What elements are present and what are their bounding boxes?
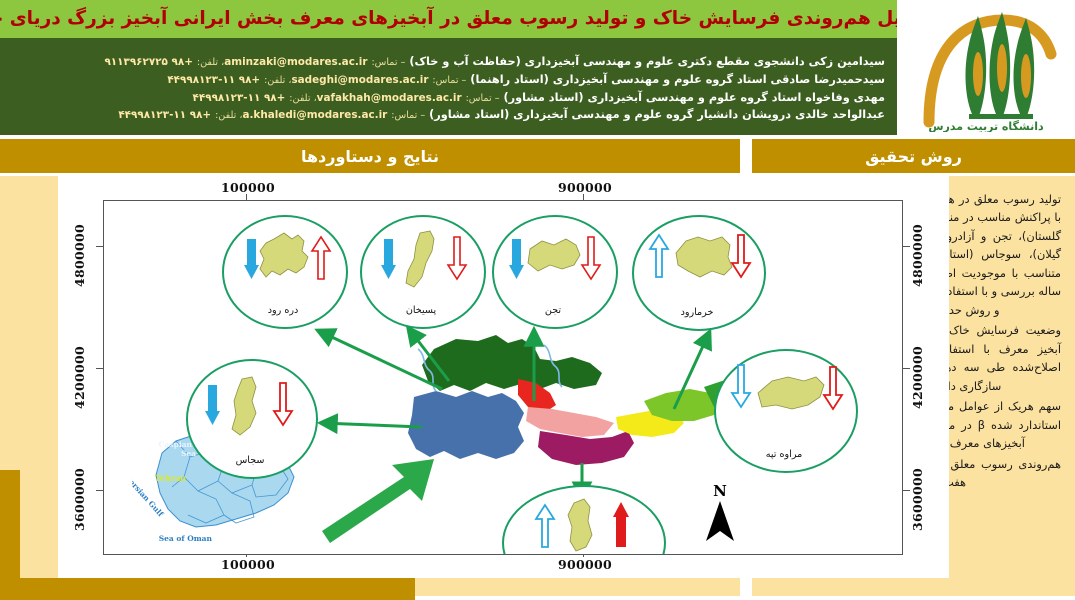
arrow-erosion-up-solid-red — [613, 502, 629, 547]
arrow-erosion-down-hollow-red — [274, 383, 292, 425]
scalebar-tick-220: 220 — [588, 553, 608, 555]
scalebar-tick-110: 110 — [549, 553, 569, 555]
arrow-erosion-down-hollow-red — [732, 235, 750, 277]
watershed-circle-pasikhan[interactable]: پسیخان — [360, 215, 482, 325]
author-contact-label: – تماس: — [466, 93, 500, 104]
north-label: N — [701, 484, 739, 499]
author-name: مهدی وفاخواه استاد گروه علوم و مهندسی آب… — [503, 91, 885, 104]
arrow-sediment-down-solid-blue — [509, 239, 524, 279]
arrow-erosion-up-hollow-red — [312, 237, 330, 279]
axis-tick-mark — [903, 368, 910, 369]
scalebar-tick-55: 55 — [533, 553, 546, 555]
axis-tick-mark — [96, 490, 103, 491]
author-phone: +۹۸ ۱۱-۴۴۹۹۸۱۲۳ — [167, 74, 260, 86]
watershed-circle-dareh-rood[interactable]: دره رود — [222, 215, 344, 325]
author-phone-label: ، تلفن: — [264, 75, 291, 86]
university-logo: دانشگاه تربیت مدرس — [897, 0, 1075, 135]
author-line: مهدی وفاخواه استاد گروه علوم و مهندسی آب… — [8, 89, 889, 107]
watershed-circle-tajan[interactable]: تجن — [492, 215, 614, 325]
arrow-sediment-down-solid-blue — [244, 239, 259, 279]
watershed-label-sojas: سجاس — [186, 455, 314, 466]
map-figure: 100000 900000 100000 900000 4800000 4200… — [58, 176, 949, 578]
watershed-label-pasikhan: پسیخان — [360, 305, 482, 316]
logo-caption: دانشگاه تربیت مدرس — [928, 120, 1044, 132]
section-header-results: نتایج و دستاوردها — [0, 139, 740, 173]
north-arrow: N — [701, 484, 739, 547]
author-line: سیدامین زکی دانشجوی مقطع دکتری علوم و مه… — [8, 53, 889, 71]
poster-title-band: تحلیل هم‌روندی فرسایش خاک و تولید رسوب م… — [0, 0, 897, 38]
scalebar-tick-330: 330 — [624, 553, 644, 555]
author-email[interactable]: a.khaledi@modares.ac.ir — [242, 109, 387, 121]
author-contact-label: – تماس: — [391, 110, 425, 121]
author-name: سیدحمیدرضا صادقی استاد گروه علوم و مهندس… — [470, 73, 885, 86]
scalebar-tick-0: 0 — [516, 553, 523, 555]
x-axis-tick-bottom-right: 900000 — [558, 557, 612, 572]
author-email[interactable]: sadeghi@modares.ac.ir — [291, 74, 428, 86]
scalebar-numbers: 0 55 110 220 330 440 — [516, 553, 676, 555]
north-arrow-icon — [703, 499, 737, 543]
y-axis-tick-left-3: 3600000 — [72, 468, 87, 531]
author-email[interactable]: aminzaki@modares.ac.ir — [224, 56, 367, 68]
author-phone: +۹۸ ۱۱-۴۴۹۹۸۱۲۳ — [118, 109, 211, 121]
author-line: عبدالواحد خالدی درویشان دانشیار گروه علو… — [8, 106, 889, 124]
y-axis-tick-left-2: 4200000 — [72, 346, 87, 409]
tarbiat-modares-logo-icon: دانشگاه تربیت مدرس — [911, 4, 1061, 132]
arrow-erosion-down-hollow-red — [824, 367, 842, 409]
y-axis-tick-right-1: 4800000 — [910, 224, 925, 287]
poster-root: تحلیل هم‌روندی فرسایش خاک و تولید رسوب م… — [0, 0, 1075, 600]
section-header-results-label: نتایج و دستاوردها — [301, 147, 439, 166]
arrow-sediment-down-hollow-blue — [732, 365, 750, 407]
author-contact-label: – تماس: — [371, 57, 405, 68]
watershed-circle-azadroud[interactable]: آزادرود — [502, 485, 662, 555]
author-phone: +۹۸ ۱۱-۴۴۹۹۸۱۲۳ — [193, 92, 286, 104]
author-email[interactable]: vafakhah@modares.ac.ir — [317, 92, 462, 104]
author-phone: +۹۸ ۹۱۱۳۹۶۲۷۲۵ — [104, 56, 192, 68]
watershed-label-tajan: تجن — [492, 305, 614, 316]
x-axis-tick-top-left: 100000 — [221, 180, 275, 195]
author-phone-label: ، تلفن: — [215, 110, 242, 121]
author-line: سیدحمیدرضا صادقی استاد گروه علوم و مهندس… — [8, 71, 889, 89]
author-name: سیدامین زکی دانشجوی مقطع دکتری علوم و مه… — [409, 55, 885, 68]
axis-tick-mark — [903, 246, 910, 247]
arrow-sediment-up-hollow-blue — [536, 505, 554, 547]
inset-locator-arrow — [322, 459, 434, 543]
x-axis-tick-bottom-left: 100000 — [221, 557, 275, 572]
y-axis-tick-right-2: 4200000 — [910, 346, 925, 409]
scalebar-tick-440: 440 — [660, 553, 680, 555]
arrow-erosion-down-hollow-red — [448, 237, 466, 279]
map-scalebar: 0 55 110 220 330 440 Km — [516, 553, 676, 555]
author-phone-label: ، تلفن: — [197, 57, 224, 68]
map-canvas[interactable]: Caspian Sea Caspian Sea Tehran Persian — [103, 200, 903, 555]
bottom-accent-strip — [0, 578, 415, 600]
author-phone-label: ، تلفن: — [289, 93, 316, 104]
section-header-method: روش تحقیق — [752, 139, 1075, 173]
author-contact-label: – تماس: — [432, 75, 466, 86]
watershed-circle-khormaroud[interactable]: خرمارود — [632, 215, 762, 327]
svg-text:Sea of Oman: Sea of Oman — [159, 534, 213, 543]
axis-tick-mark — [96, 368, 103, 369]
axis-tick-mark — [903, 490, 910, 491]
arrow-sediment-up-hollow-blue — [650, 235, 668, 277]
watershed-shape-azadroud — [502, 485, 662, 555]
svg-text:Tehran: Tehran — [155, 473, 186, 483]
watershed-circle-sojas[interactable]: سجاس — [186, 359, 314, 475]
watershed-label-khormaroud: خرمارود — [632, 307, 762, 318]
y-axis-tick-right-3: 3600000 — [910, 468, 925, 531]
watershed-label-maraveh-tappeh: مراوه تپه — [714, 449, 854, 460]
arrow-erosion-down-hollow-red — [582, 237, 600, 279]
y-axis-tick-left-1: 4800000 — [72, 224, 87, 287]
watershed-circle-maraveh-tappeh[interactable]: مراوه تپه — [714, 349, 854, 469]
authors-band: سیدامین زکی دانشجوی مقطع دکتری علوم و مه… — [0, 38, 897, 135]
section-header-method-label: روش تحقیق — [865, 147, 962, 166]
x-axis-tick-top-right: 900000 — [558, 180, 612, 195]
author-name: عبدالواحد خالدی درویشان دانشیار گروه علو… — [429, 108, 885, 121]
page-title: تحلیل هم‌روندی فرسایش خاک و تولید رسوب م… — [0, 10, 897, 29]
axis-tick-mark — [96, 246, 103, 247]
arrow-sediment-down-solid-blue — [205, 385, 220, 425]
arrow-sediment-down-solid-blue — [381, 239, 396, 279]
watershed-label-dareh-rood: دره رود — [222, 305, 344, 316]
